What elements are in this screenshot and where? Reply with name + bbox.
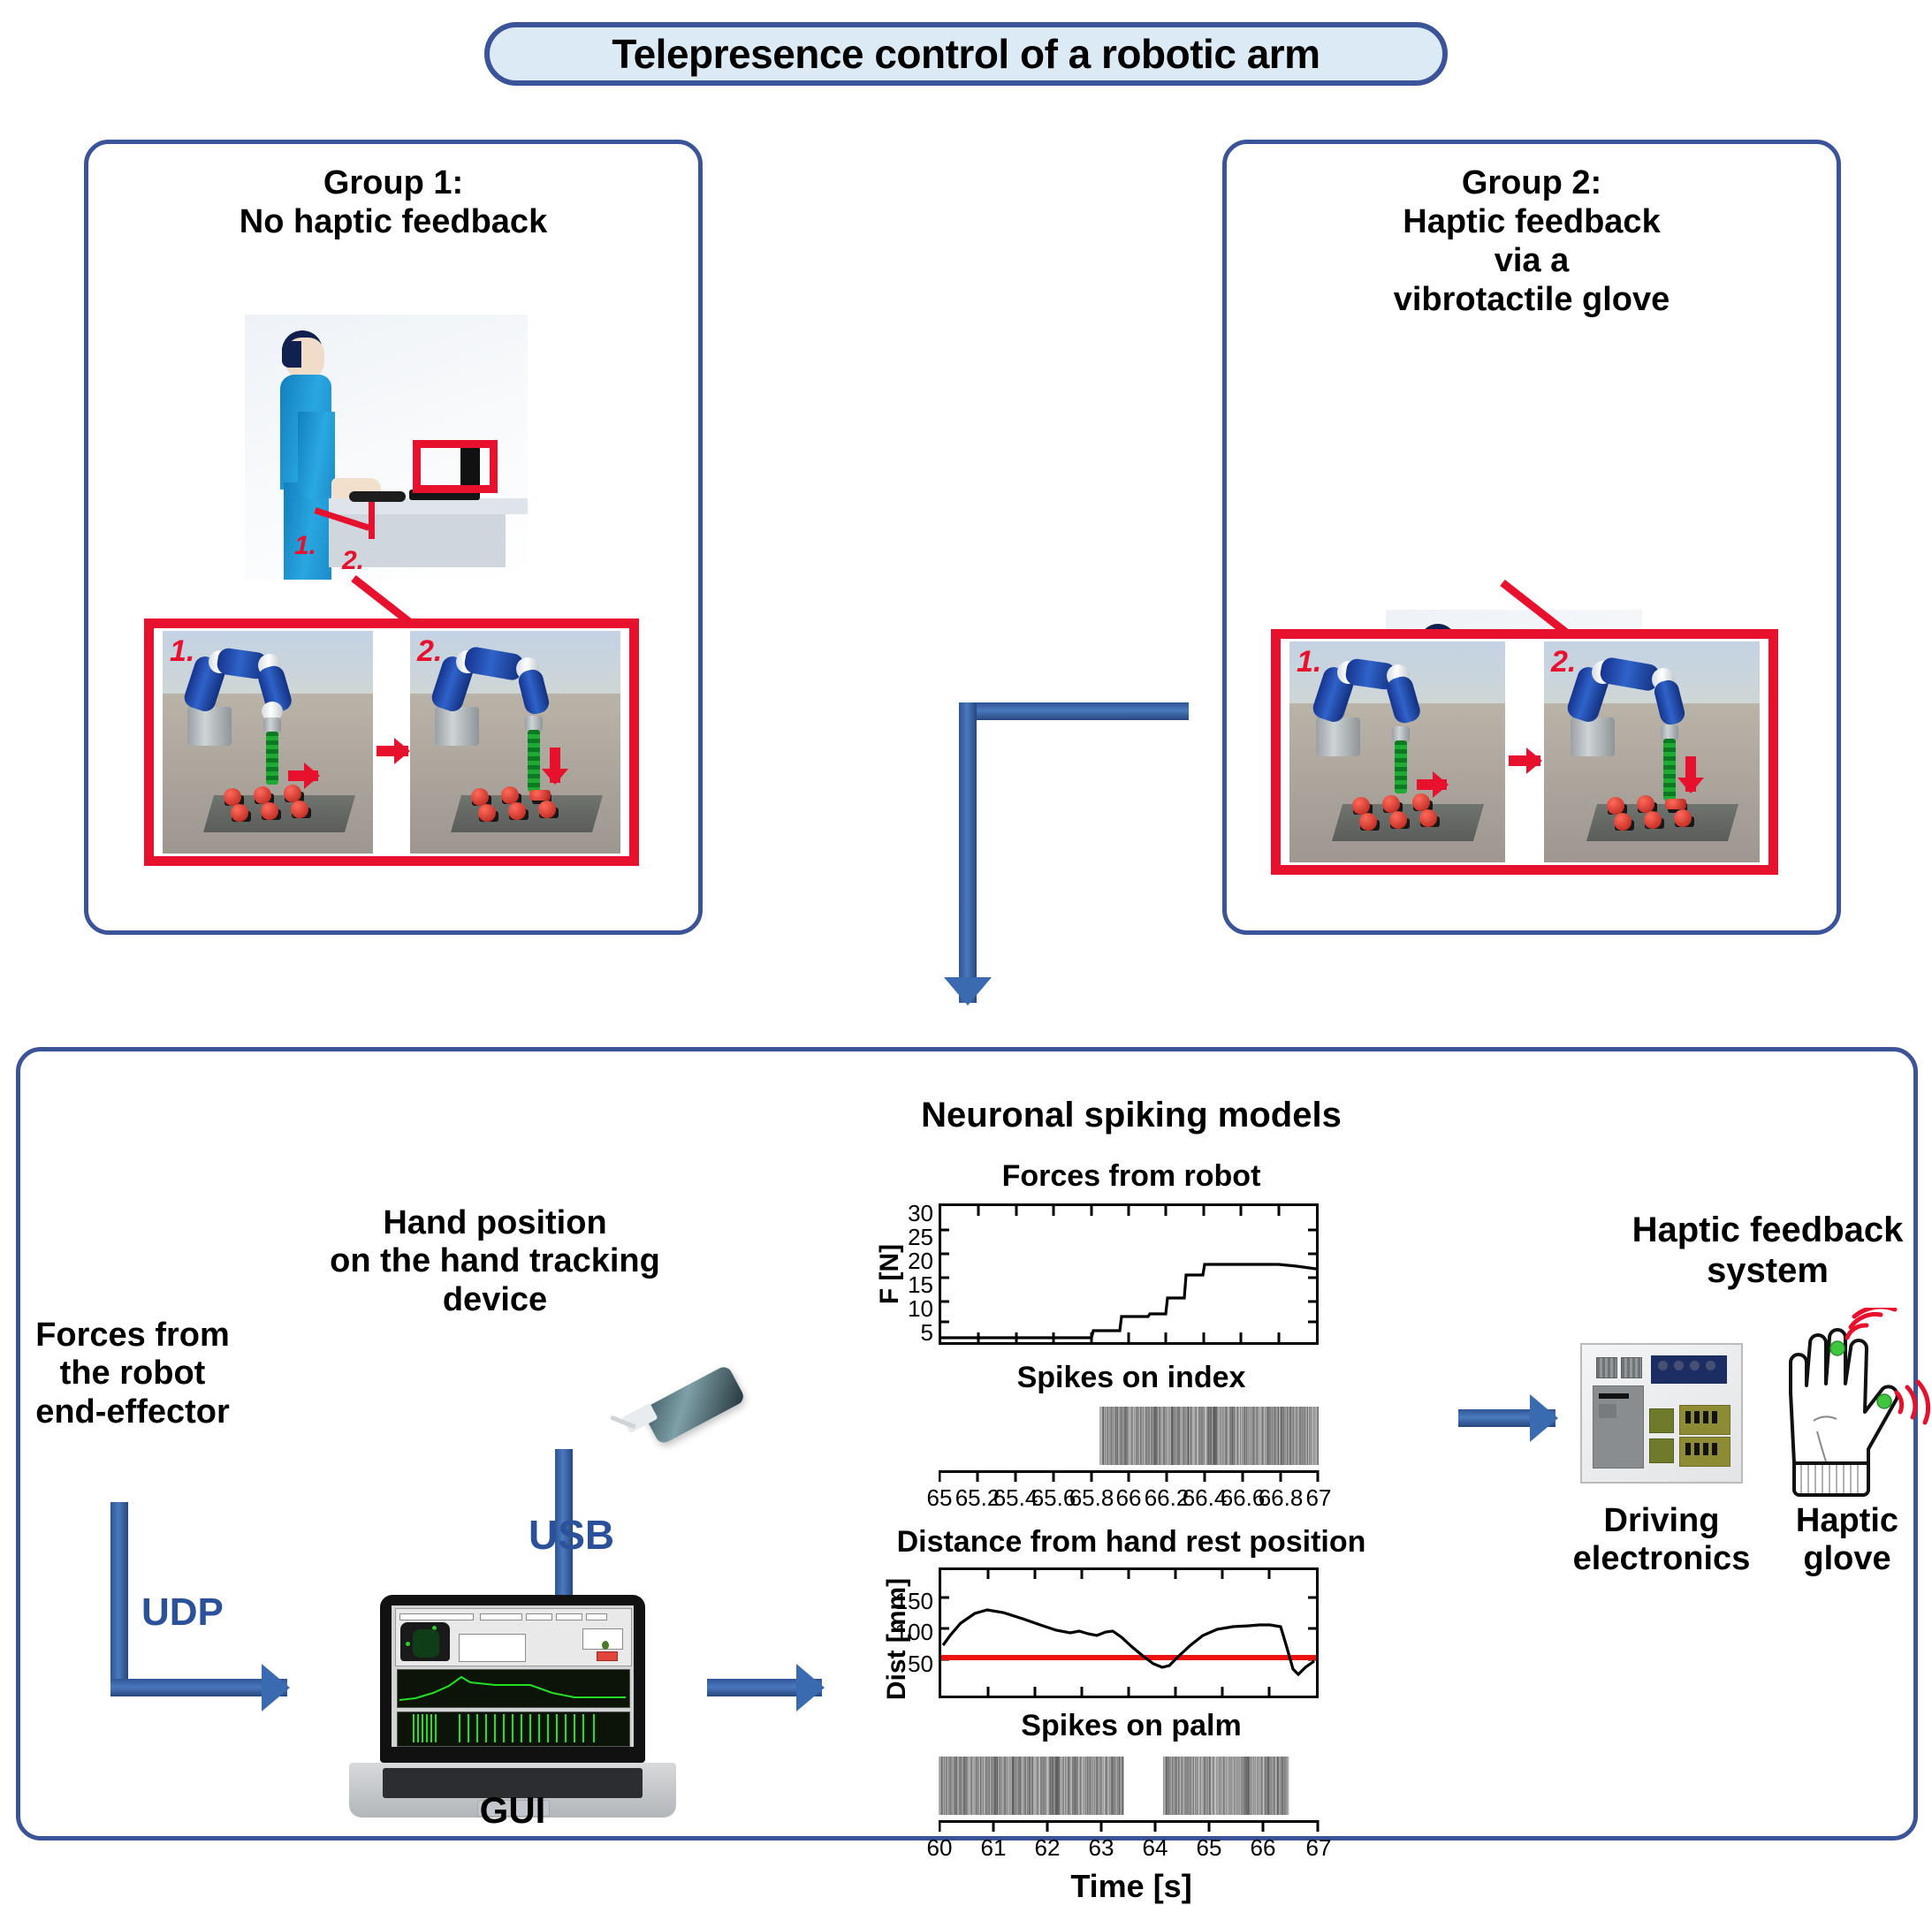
palm-xtick: 67 [1297,1834,1341,1862]
board-blue-module [1651,1355,1727,1384]
target-button [261,802,278,820]
laptop-screen [392,1605,634,1747]
glove-label-line2: glove [1759,1540,1932,1578]
distance-ytick: 100 [884,1619,933,1646]
driving-electronics-board [1580,1343,1743,1484]
glove-label-line1: Haptic [1759,1502,1932,1540]
gui-distance-trace [398,1670,629,1707]
robot-spring-probe [266,732,278,785]
group2-title-line3: via a [1227,241,1837,280]
group1-step2-label: 2. [342,546,364,576]
palm-spike-raster [939,1757,1319,1820]
target-button [1644,811,1662,829]
forces-from-robot-label: Forces from the robot end-effector [9,1317,256,1431]
approach-arrow-right [288,770,318,781]
group2-robot-step1-label: 1. [1297,645,1321,679]
group1-robot-step2-label: 2. [417,634,442,669]
hand-position-label: Hand position on the hand tracking devic… [292,1204,698,1319]
board-heatsink-1 [1596,1357,1617,1378]
palm-xtick: 60 [917,1834,962,1862]
gui-spikes-plot [397,1711,630,1747]
hand-label-line2: on the hand tracking [292,1242,698,1280]
group2-robot-step1: 1. [1289,641,1505,862]
gui-to-models-arrow [707,1679,822,1696]
udp-path-arrow [110,1679,287,1696]
palm-spikes-title: Spikes on palm [875,1709,1388,1743]
target-button [1637,795,1654,813]
gui-distance-plot [397,1669,630,1708]
group2-robot-sequence: 1. 2. [1271,629,1778,875]
target-button [1614,813,1632,831]
group1-title-line1: Group 1: [88,163,698,202]
forces-label-line3: end-effector [9,1393,256,1431]
forces-label-line2: the robot [9,1355,256,1393]
group2-robot-step2: 2. [1544,641,1760,862]
robot-link-2 [1599,656,1661,692]
index-spike-raster [939,1407,1319,1470]
glove-svg [1759,1308,1932,1502]
target-button [471,788,489,806]
distance-ytick: 150 [884,1588,933,1615]
gui-label: GUI [433,1789,592,1832]
group1-person-scene: 1. 2. [245,315,528,580]
sequence-arrow [377,746,408,756]
group2-robot-step2-label: 2. [1551,645,1576,679]
index-x-ticks [939,1470,1320,1483]
group2-title-line1: Group 2: [1227,163,1837,202]
udp-path-vertical [110,1502,128,1696]
target-button [1359,813,1377,831]
palm-xtick: 65 [1187,1834,1231,1862]
group2-title: Group 2: Haptic feedback via a vibrotact… [1227,144,1837,319]
group2-title-line4: vibrotactile glove [1227,280,1837,319]
robot-spring-probe [1663,739,1676,801]
hand-tracking-dongle [610,1365,751,1462]
index-raster-svg [939,1407,1319,1470]
press-arrow-down [1685,756,1696,792]
target-button [538,801,556,818]
haptic-system-title: Haptic feedback system [1591,1211,1932,1291]
glove-actuator-index [1830,1341,1845,1355]
palm-x-ticks [939,1820,1320,1833]
gui-hand-view [400,1622,450,1661]
target-button [284,785,301,802]
group1-title-line2: No haptic feedback [88,202,698,241]
target-button [1389,811,1407,829]
forces-chart-title: Forces from robot [875,1159,1388,1194]
target-button [1382,795,1400,813]
forces-label-line1: Forces from [9,1317,256,1355]
target-button [508,802,526,820]
udp-label: UDP [141,1590,224,1635]
target-button [478,804,496,822]
forces-plot-area [939,1203,1319,1345]
gui-table [459,1634,526,1662]
target-button [291,801,308,818]
board-terminal-2 [1649,1438,1674,1463]
palm-xtick: 63 [1079,1834,1123,1862]
driving-electronics-label: Driving electronics [1555,1502,1768,1579]
gui-param-field [586,1613,607,1620]
gui-stop-button [597,1651,618,1661]
palm-raster-svg [939,1757,1319,1820]
gui-path-field [399,1613,474,1620]
flow-connector-down-arrow [959,702,977,1003]
group1-robot-step1: 1. [163,631,373,854]
diagram-title: Telepresence control of a robotic arm [612,30,1320,78]
driving-label-line1: Driving [1555,1502,1768,1540]
forces-ytick: 5 [891,1319,933,1347]
vibration-waves-thumb [1897,1382,1928,1423]
robot-spring-probe [528,730,540,792]
target-button [231,804,248,822]
robot-base [1316,717,1360,756]
board-driver-2 [1679,1437,1730,1467]
time-axis-label: Time [s] [875,1868,1388,1905]
glove-actuator-thumb [1877,1394,1891,1408]
models-title: Neuronal spiking models [875,1096,1388,1135]
palm-xtick: 61 [971,1834,1015,1862]
models-to-haptic-arrow [1458,1409,1555,1427]
board-microcontroller [1593,1385,1644,1469]
gui-hand-silhouette [413,1629,439,1658]
distance-ytick: 50 [884,1651,933,1678]
hand-label-line1: Hand position [292,1204,698,1242]
target-button [1412,793,1430,811]
palm-xtick: 66 [1241,1834,1285,1862]
group1-title: Group 1: No haptic feedback [88,144,698,241]
board-heatsink-2 [1621,1357,1642,1378]
usb-label: USB [529,1511,614,1559]
group1-step1-label: 1. [294,531,316,561]
index-spikes-title: Spikes on index [875,1361,1388,1395]
robot-base [435,707,479,746]
target-button [1607,797,1624,815]
diagram-title-box: Telepresence control of a robotic arm [484,22,1448,86]
group1-robot-sequence: 1. 2. [144,619,639,866]
haptic-title-line2: system [1591,1251,1932,1292]
haptic-title-line1: Haptic feedback [1591,1211,1932,1251]
target-button [1352,797,1370,815]
target-button [1674,809,1692,827]
group1-robot-step1-label: 1. [170,634,194,669]
palm-xtick: 62 [1025,1834,1069,1862]
driving-label-line2: electronics [1555,1540,1768,1578]
person-arm [298,412,335,500]
index-xtick: 67 [1297,1484,1341,1512]
gui-rate-field [556,1613,582,1620]
press-arrow-down [550,748,560,783]
approach-arrow-right [1417,779,1447,790]
gui-value-field [526,1613,552,1620]
vibration-waves-index [1847,1308,1895,1338]
dongle-body [642,1364,747,1446]
forces-trace [941,1206,1316,1342]
target-button [224,788,241,806]
gui-name-field [480,1613,522,1620]
gui-led-indicator [602,1641,609,1650]
robot-base [1571,717,1615,756]
board-driver-1 [1679,1405,1730,1435]
group1-laptop-highlight-box [413,440,498,493]
gui-spike-raster [398,1712,629,1746]
group1-robot-step2: 2. [410,631,620,854]
board-terminal-1 [1649,1408,1674,1433]
target-button [501,786,519,804]
flow-connector-horizontal [959,702,1189,720]
haptic-glove [1759,1308,1932,1502]
hand-tracking-device [349,491,406,502]
palm-xtick: 64 [1133,1834,1177,1862]
sequence-arrow [1509,755,1540,766]
group2-title-line2: Haptic feedback [1227,202,1837,241]
gui-hand-dot-thumb [406,1642,410,1646]
robot-base [187,707,232,746]
target-button [254,786,271,804]
group1-step2-arrow [369,502,375,539]
distance-chart-title: Distance from hand rest position [875,1525,1388,1560]
haptic-glove-label: Haptic glove [1759,1502,1932,1579]
distance-plot-area [939,1567,1319,1698]
robot-link-2 [463,645,525,681]
hand-label-line3: device [292,1281,698,1319]
robot-spring-probe [1395,740,1407,793]
person-hair-side [282,341,301,368]
target-button [1419,809,1437,827]
neuronal-spiking-models: Neuronal spiking models Forces from robo… [875,1096,1388,1838]
distance-trace [941,1570,1316,1696]
